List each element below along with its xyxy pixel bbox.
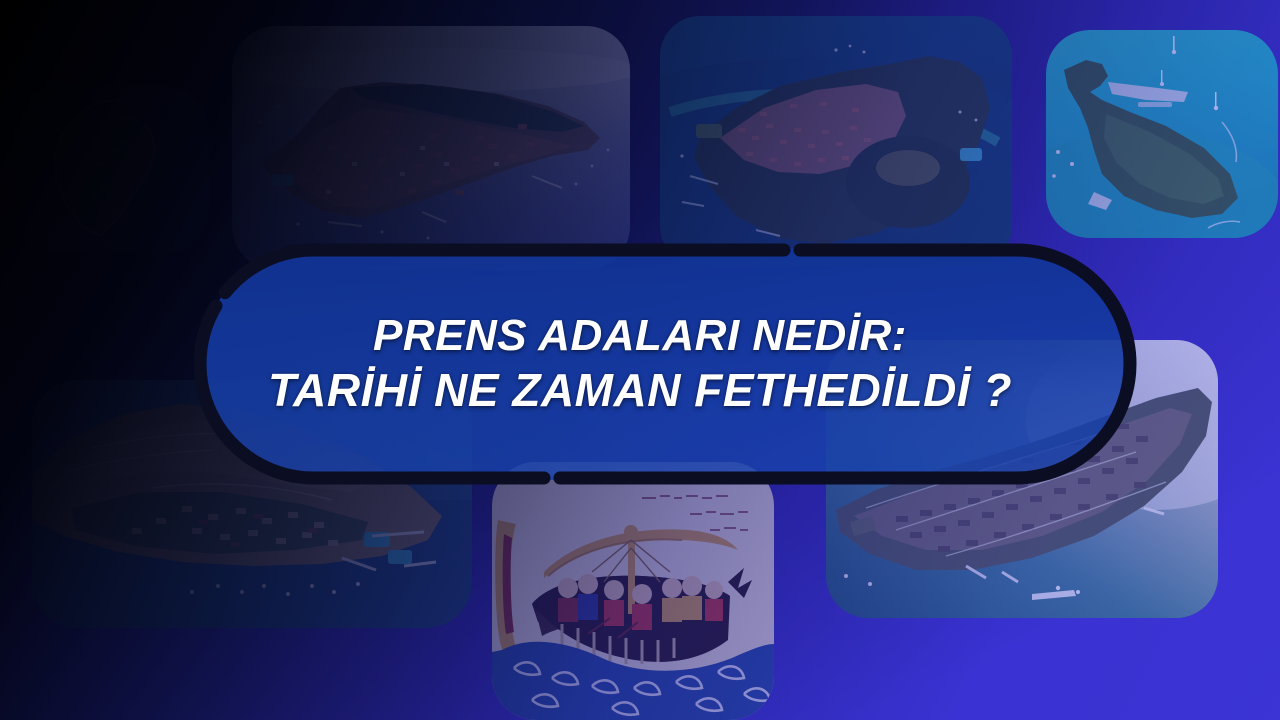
title-block: PRENS ADALARI NEDİR: TARİHİ NE ZAMAN FET… xyxy=(0,248,1280,480)
image-tile-manuscript-bottomcenter xyxy=(492,462,774,720)
byzantine-manuscript-ship-icon xyxy=(492,462,774,720)
aerial-island-bright-turquoise-icon xyxy=(1046,30,1278,238)
thumbnail-canvas: PRENS ADALARI NEDİR: TARİHİ NE ZAMAN FET… xyxy=(0,0,1280,720)
title-line-2: TARİHİ NE ZAMAN FETHEDİLDİ ? xyxy=(268,366,1012,415)
aerial-island-dark-water-icon xyxy=(14,86,209,254)
image-tile-island-large-top3 xyxy=(660,16,1012,266)
title-line-1: PRENS ADALARI NEDİR: xyxy=(373,313,907,360)
aerial-island-turquoise-shallows-icon xyxy=(660,16,1012,266)
image-tile-island-small-topleft xyxy=(14,86,209,254)
image-tile-island-topright xyxy=(1046,30,1278,238)
image-tile-island-large-top2 xyxy=(232,26,630,270)
aerial-island-dense-town-icon xyxy=(232,26,630,270)
